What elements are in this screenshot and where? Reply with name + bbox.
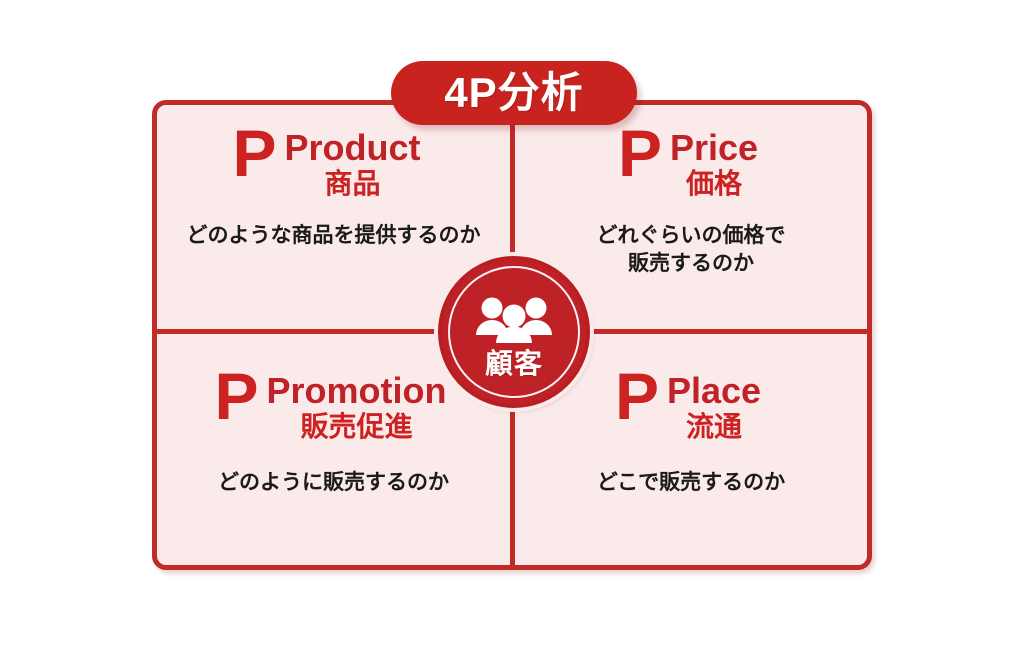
p-marker-icon: P [232, 125, 276, 181]
p-marker-icon: P [214, 368, 258, 424]
quadrant-title-jp: 商品 [325, 168, 381, 200]
customer-label: 顧客 [485, 350, 543, 378]
heading-stack: Place 流通 [667, 370, 761, 443]
quadrant-title-jp: 価格 [686, 168, 742, 200]
quadrant-title-jp: 流通 [686, 411, 742, 443]
quadrant-description: どのように販売するのか [218, 469, 449, 497]
diagram-title-text: 4P分析 [444, 72, 583, 114]
quadrant-description: どれぐらいの価格で 販売するのか [597, 222, 786, 279]
customer-center-node[interactable]: 顧客 [438, 256, 590, 408]
quadrant-title-jp: 販売促進 [301, 411, 413, 443]
heading-stack: Promotion 販売促進 [267, 370, 447, 443]
people-group-icon [475, 297, 553, 348]
quadrant-heading: P Place 流通 [615, 370, 761, 443]
quadrant-heading: P Price 価格 [618, 127, 758, 200]
quadrant-title-en: Price [670, 129, 758, 167]
quadrant-description: どのような商品を提供するのか [187, 222, 481, 250]
quadrant-title-en: Product [285, 129, 421, 167]
heading-stack: Product 商品 [285, 127, 421, 200]
quadrant-heading: P Promotion 販売促進 [214, 370, 446, 443]
quadrant-title-en: Place [667, 372, 761, 410]
diagram-canvas: 4P分析 P Product 商品 どのような商品を提供するのか P Price… [0, 0, 1010, 657]
quadrant-title-en: Promotion [267, 372, 447, 410]
diagram-title-badge: 4P分析 [391, 61, 637, 125]
quadrant-heading: P Product 商品 [232, 127, 420, 200]
quadrant-description: どこで販売するのか [597, 469, 785, 497]
p-marker-icon: P [615, 368, 659, 424]
p-marker-icon: P [618, 125, 662, 181]
heading-stack: Price 価格 [670, 127, 758, 200]
